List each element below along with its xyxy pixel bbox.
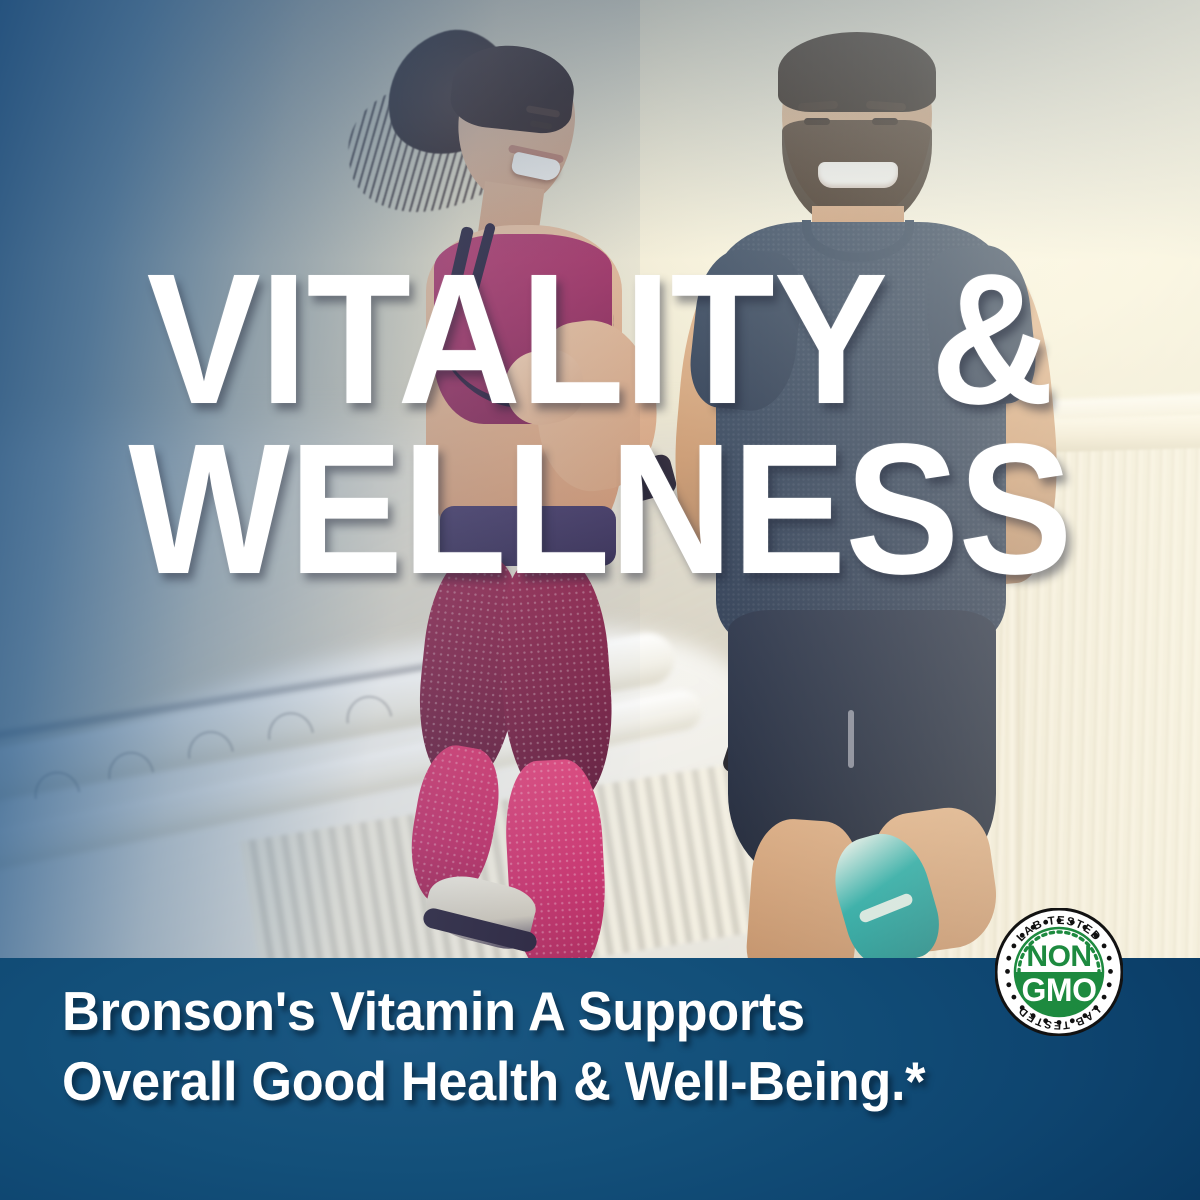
- non-gmo-lab-tested-badge: NON GMO LAB TESTED LAB TESTED: [995, 908, 1123, 1036]
- product-lifestyle-poster: VITALITY & WELLNESS Bronson's Vitamin A …: [0, 0, 1200, 1200]
- badge-non-text: NON: [1026, 940, 1091, 973]
- headline-line-2: WELLNESS: [48, 428, 1152, 592]
- claim-line-1: Bronson's Vitamin A Supports: [62, 976, 925, 1046]
- headline-line-1: VITALITY &: [48, 258, 1152, 422]
- badge-gmo-text: GMO: [1022, 972, 1097, 1008]
- claim-line-2: Overall Good Health & Well-Being.*: [62, 1046, 925, 1116]
- claim-text: Bronson's Vitamin A Supports Overall Goo…: [62, 976, 971, 1117]
- page-title: VITALITY & WELLNESS: [0, 258, 1200, 591]
